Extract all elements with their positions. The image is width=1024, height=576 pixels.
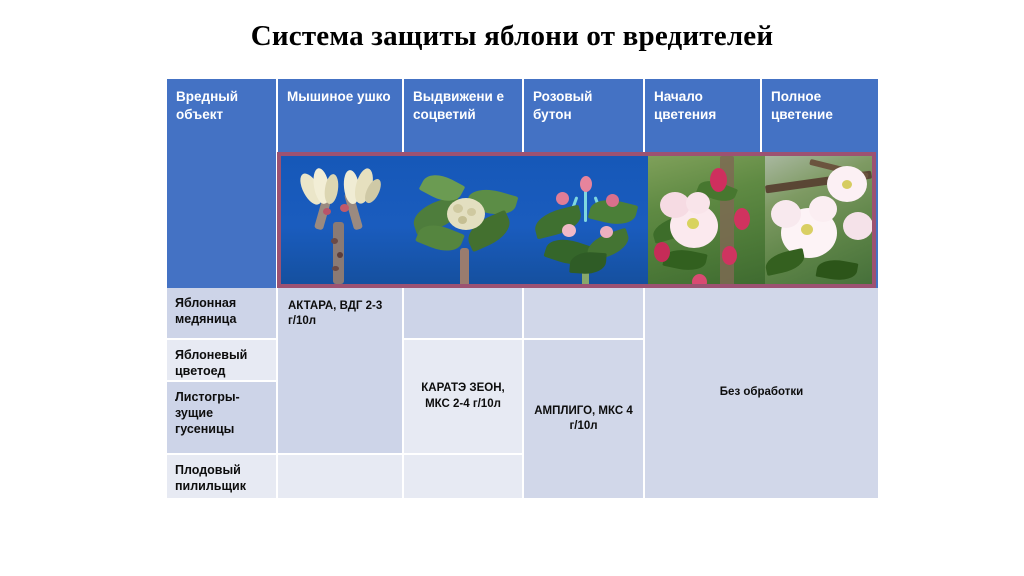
table-header-pink-bud: Розовый бутон xyxy=(524,79,645,152)
photo-apple-pink-bud-stage xyxy=(526,156,648,284)
photo-apple-green-cluster-stage xyxy=(406,156,526,284)
photo-apple-full-bloom-stage xyxy=(765,156,872,284)
treatment-label: Без обработки xyxy=(720,385,803,400)
header-label: Мышиное ушко xyxy=(287,89,391,104)
treatment-cell-karate-zeon: КАРАТЭ ЗЕОН, МКС 2-4 г/10л xyxy=(404,340,524,455)
table-header-inflorescence: Выдвижени е соцветий xyxy=(404,79,524,152)
growth-stage-photo-strip xyxy=(277,152,876,288)
treatment-cell-inflorescence-sawfly-empty xyxy=(404,455,524,500)
row-label-text: Плодовый пилильщик xyxy=(175,463,246,493)
photo-apple-bud-mouse-ear-stage xyxy=(281,156,406,284)
header-label: Выдвижени е соцветий xyxy=(413,89,504,122)
treatment-label: КАРАТЭ ЗЕОН, МКС 2-4 г/10л xyxy=(412,381,514,411)
row-label-text: Яблонная медяница xyxy=(175,296,236,326)
treatment-cell-inflorescence-sucker-empty xyxy=(404,288,524,340)
table-row-label-apple-blossom-weevil: Яблоневый цветоед xyxy=(167,340,278,382)
treatment-label: АМПЛИГО, МКС 4 г/10л xyxy=(532,404,635,434)
slide-canvas: Система защиты яблони от вредителей Вред… xyxy=(0,0,1024,576)
treatment-cell-no-treatment: Без обработки xyxy=(645,288,878,500)
photo-row-first-column-filler xyxy=(167,152,276,288)
header-label: Начало цветения xyxy=(654,89,716,122)
row-label-text: Листогры-зущие гусеницы xyxy=(175,390,240,436)
treatment-cell-ampligo: АМПЛИГО, МКС 4 г/10л xyxy=(524,340,645,500)
protection-schedule-table: Вредный объект Мышиное ушко Выдвижени е … xyxy=(167,79,878,500)
table-header-mouse-ear: Мышиное ушко xyxy=(278,79,404,152)
treatment-cell-aktara: АКТАРА, ВДГ 2-3 г/10л xyxy=(278,288,404,455)
treatment-cell-pinkbud-sucker-empty xyxy=(524,288,645,340)
table-header-bloom-start: Начало цветения xyxy=(645,79,762,152)
table-header-full-bloom: Полное цветение xyxy=(762,79,878,152)
photo-apple-flowering-start-stage xyxy=(648,156,765,284)
table-row-label-leaf-eating-caterpillars: Листогры-зущие гусеницы xyxy=(167,382,278,455)
treatment-label: АКТАРА, ВДГ 2-3 г/10л xyxy=(288,300,382,327)
treatment-cell-mouse-ear-sawfly-empty xyxy=(278,455,404,500)
row-label-text: Яблоневый цветоед xyxy=(175,348,247,378)
header-label: Полное цветение xyxy=(771,89,833,122)
table-row-label-apple-sawfly: Плодовый пилильщик xyxy=(167,455,278,500)
table-row-label-apple-sucker: Яблонная медяница xyxy=(167,288,278,340)
page-title: Система защиты яблони от вредителей xyxy=(0,20,1024,53)
table-header-pest-object: Вредный объект xyxy=(167,79,278,152)
header-label: Вредный объект xyxy=(176,89,238,122)
header-label: Розовый бутон xyxy=(533,89,592,122)
